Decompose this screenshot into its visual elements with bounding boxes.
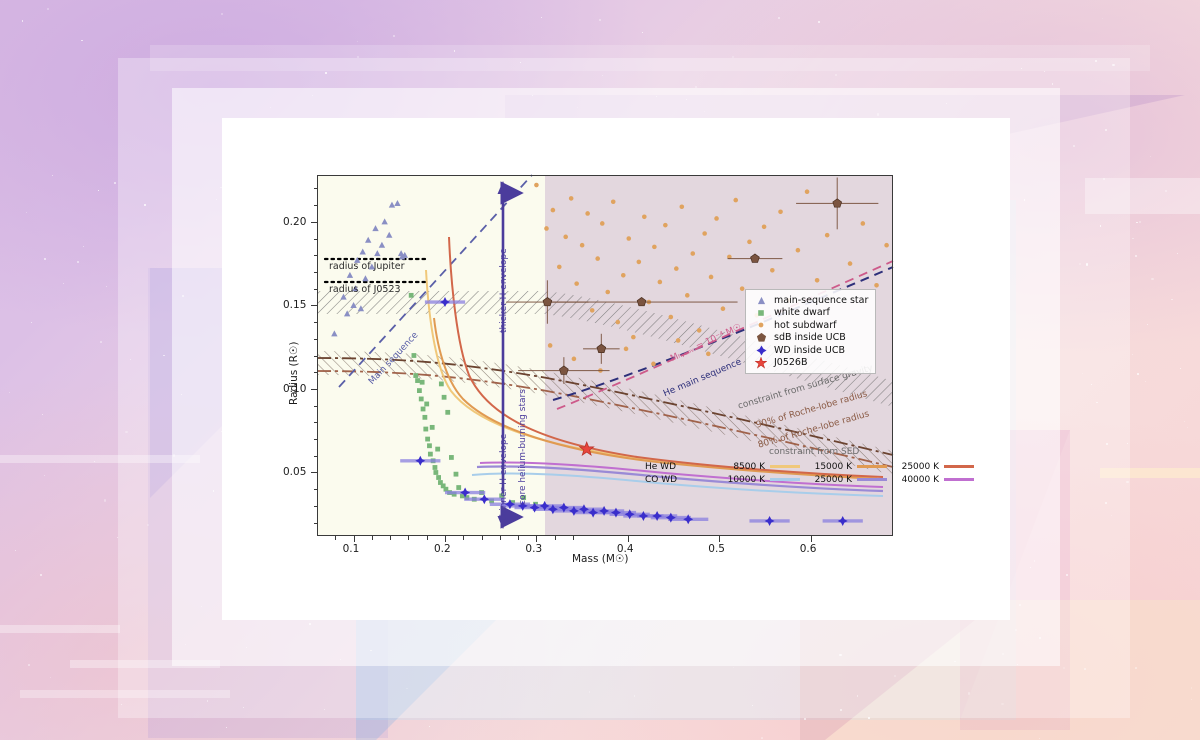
- y-minor-tick: [314, 356, 318, 357]
- x-minor-tick: [555, 536, 556, 540]
- y-axis-title: Radius (R☉): [288, 342, 300, 405]
- x-tick: [811, 536, 812, 542]
- track-temp: 25000 K: [893, 462, 939, 472]
- y-minor-tick: [314, 523, 318, 524]
- track-legend-entry: 25000 K: [893, 462, 974, 472]
- track-temp: 40000 K: [893, 475, 939, 485]
- track-swatch: [944, 478, 974, 480]
- x-minor-tick: [408, 536, 409, 540]
- x-tick-label: 0.3: [525, 543, 542, 555]
- y-minor-tick: [314, 255, 318, 256]
- x-minor-tick: [390, 536, 391, 540]
- figure-stage: thicker H envelope thinner H envelope co…: [0, 0, 1200, 740]
- y-minor-tick: [314, 339, 318, 340]
- x-axis-title: Mass (M☉): [572, 553, 628, 565]
- x-minor-tick: [463, 536, 464, 540]
- x-tick-label: 0.6: [800, 543, 817, 555]
- x-tick-label: 0.5: [708, 543, 725, 555]
- x-tick-label: 0.1: [343, 543, 360, 555]
- x-tick: [354, 536, 355, 542]
- x-minor-tick: [372, 536, 373, 540]
- mass-radius-plot: thicker H envelope thinner H envelope co…: [317, 175, 893, 536]
- x-tick: [628, 536, 629, 542]
- y-minor-tick: [314, 439, 318, 440]
- y-minor-tick: [314, 406, 318, 407]
- x-minor-tick: [573, 536, 574, 540]
- y-tick-label: 0.20: [283, 216, 306, 228]
- track-legend-entry: 40000 K: [893, 475, 974, 485]
- y-tick: [311, 389, 317, 390]
- y-tick: [311, 472, 317, 473]
- x-minor-tick: [427, 536, 428, 540]
- y-minor-tick: [314, 489, 318, 490]
- y-minor-tick: [314, 239, 318, 240]
- y-minor-tick: [314, 506, 318, 507]
- track-swatch: [944, 465, 974, 467]
- plot-frame: [317, 175, 893, 536]
- y-minor-tick: [314, 289, 318, 290]
- y-minor-tick: [314, 372, 318, 373]
- x-tick: [536, 536, 537, 542]
- y-tick-label: 0.15: [283, 299, 306, 311]
- y-minor-tick: [314, 322, 318, 323]
- x-minor-tick: [500, 536, 501, 540]
- x-minor-tick: [335, 536, 336, 540]
- x-tick: [445, 536, 446, 542]
- x-tick: [719, 536, 720, 542]
- y-minor-tick: [314, 188, 318, 189]
- y-tick: [311, 305, 317, 306]
- y-tick-label: 0.05: [283, 466, 306, 478]
- y-minor-tick: [314, 422, 318, 423]
- x-minor-tick: [482, 536, 483, 540]
- x-tick-label: 0.2: [434, 543, 451, 555]
- y-minor-tick: [314, 456, 318, 457]
- decor-shape-9: [0, 625, 120, 633]
- y-minor-tick: [314, 205, 318, 206]
- y-minor-tick: [314, 272, 318, 273]
- y-tick: [311, 222, 317, 223]
- x-minor-tick: [518, 536, 519, 540]
